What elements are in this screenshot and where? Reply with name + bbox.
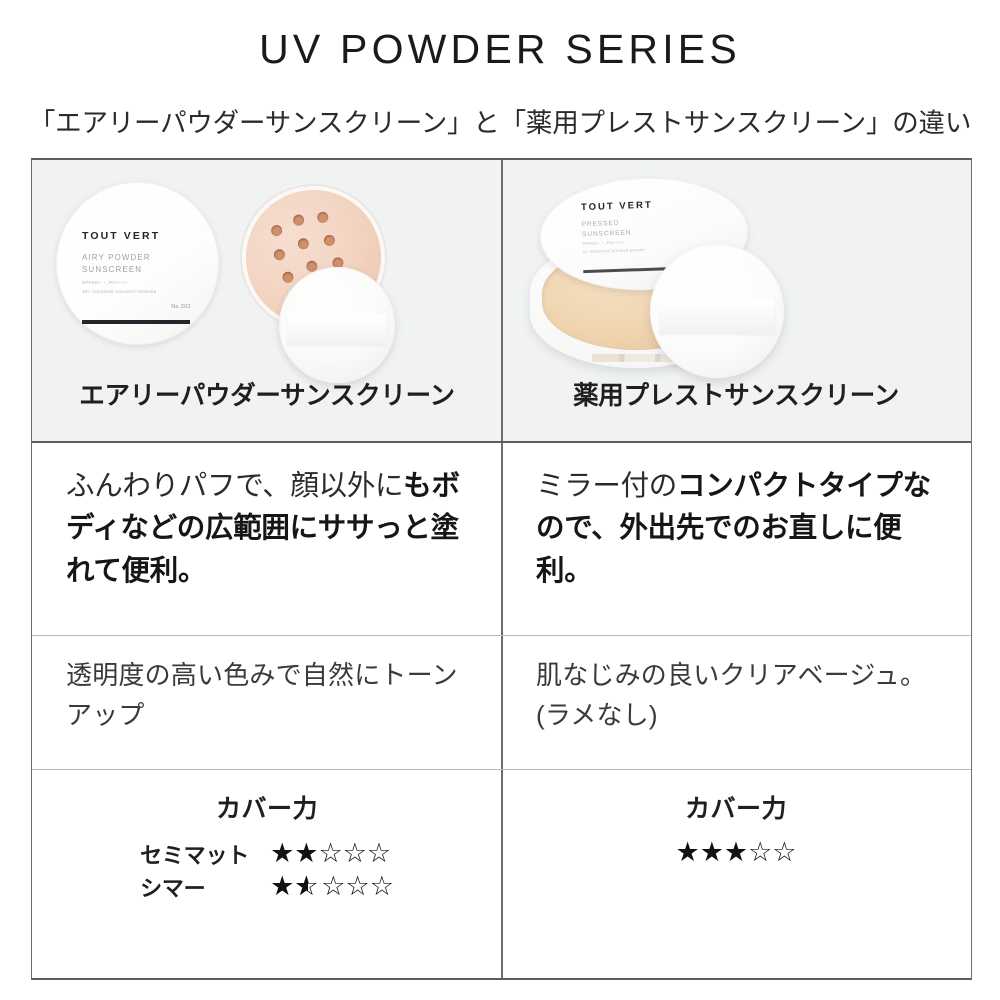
- coverage-cell-right: カバー力 ★★★☆☆: [502, 770, 970, 978]
- page-title: UV POWDER SERIES: [0, 27, 1000, 72]
- package-accent-bar: [82, 320, 190, 324]
- color-cell-right: 肌なじみの良いクリアベージュ。(ラメなし): [502, 636, 970, 769]
- color-text-right: 肌なじみの良いクリアベージュ。(ラメなし): [502, 636, 970, 735]
- rating-stars-shimmer: ★☆★☆☆☆: [270, 871, 394, 903]
- rating-row-shimmer: シマー ★☆★☆☆☆: [140, 871, 394, 903]
- product-cell-right: TOUT VERT PRESSEDSUNSCREEN SPF50+ ・ PA++…: [502, 160, 970, 441]
- usage-cell-left: ふんわりパフで、顔以外にもボディなどの広範囲にササっと塗れて便利。: [32, 443, 502, 635]
- rating-label-semi-matte: セミマット: [140, 838, 270, 870]
- rating-row-semi-matte: セミマット ★★☆☆☆: [140, 838, 394, 870]
- product-line-label: PRESSEDSUNSCREEN: [581, 218, 631, 240]
- coverage-title-left: カバー力: [32, 789, 502, 825]
- usage-text-normal-left: ふんわりパフで、顔以外に: [66, 470, 403, 502]
- table-row-coverage: カバー力 セミマット ★★☆☆☆ シマー ★☆★☆☆☆: [32, 770, 971, 978]
- product-name-right: 薬用プレストサンスクリーン: [502, 375, 970, 441]
- rating-stars-right: ★★★☆☆: [502, 837, 970, 869]
- page-subtitle: 「エアリーパウダーサンスクリーン」と「薬用プレストサンスクリーン」の違い: [0, 101, 1000, 140]
- product-name-left: エアリーパウダーサンスクリーン: [32, 375, 502, 441]
- rating-stars-semi-matte: ★★☆☆☆: [270, 838, 391, 870]
- star-half-icon: ☆★: [294, 871, 321, 903]
- column-divider: [501, 160, 503, 441]
- product-image-airy-powder: TOUT VERT AIRY POWDERSUNSCREEN SPF50+ ・ …: [32, 160, 502, 375]
- powder-puff-right: [650, 244, 784, 378]
- usage-text-normal-right: ミラー付の: [536, 470, 677, 502]
- puff-ribbon: [659, 300, 775, 334]
- coverage-cell-left: カバー力 セミマット ★★☆☆☆ シマー ★☆★☆☆☆: [32, 770, 502, 978]
- brand-label: TOUT VERT: [82, 230, 160, 242]
- puff-ribbon: [287, 315, 387, 345]
- column-divider: [501, 443, 503, 635]
- usage-cell-right: ミラー付のコンパクトタイプなので、外出先でのお直しに便利。: [502, 443, 970, 635]
- package-fine-print: SPF50+ ・ PA++++for medicinal pressed pow…: [582, 238, 646, 256]
- comparison-table: TOUT VERT AIRY POWDERSUNSCREEN SPF50+ ・ …: [31, 158, 972, 980]
- star-empty-icons: ☆☆☆: [321, 871, 394, 901]
- table-row-products: TOUT VERT AIRY POWDERSUNSCREEN SPF50+ ・ …: [32, 160, 971, 443]
- table-row-color: 透明度の高い色みで自然にトーンアップ 肌なじみの良いクリアベージュ。(ラメなし): [32, 636, 971, 770]
- color-cell-left: 透明度の高い色みで自然にトーンアップ: [32, 636, 502, 769]
- product-line-label: AIRY POWDERSUNSCREEN: [82, 252, 151, 276]
- table-row-usage: ふんわりパフで、顔以外にもボディなどの広範囲にササっと塗れて便利。 ミラー付のコ…: [32, 443, 971, 636]
- color-text-left: 透明度の高い色みで自然にトーンアップ: [32, 636, 502, 735]
- rating-label-shimmer: シマー: [140, 871, 270, 903]
- comparison-infographic: UV POWDER SERIES 「エアリーパウダーサンスクリーン」と「薬用プレ…: [0, 0, 1000, 1000]
- product-cell-left: TOUT VERT AIRY POWDERSUNSCREEN SPF50+ ・ …: [32, 160, 502, 441]
- product-image-pressed-sunscreen: TOUT VERT PRESSEDSUNSCREEN SPF50+ ・ PA++…: [502, 160, 970, 375]
- star-filled-icon: ★: [270, 871, 294, 901]
- coverage-title-right: カバー力: [502, 789, 970, 825]
- package-fine-print: SPF50+ ・ PA++++30+ compleat nuvolent rem…: [82, 279, 156, 296]
- brand-label: TOUT VERT: [581, 200, 653, 213]
- powder-jar-lid: TOUT VERT AIRY POWDERSUNSCREEN SPF50+ ・ …: [56, 182, 219, 345]
- powder-puff-left: [279, 267, 395, 383]
- column-divider: [501, 636, 503, 769]
- column-divider: [501, 770, 503, 978]
- package-code: No.202: [171, 304, 191, 310]
